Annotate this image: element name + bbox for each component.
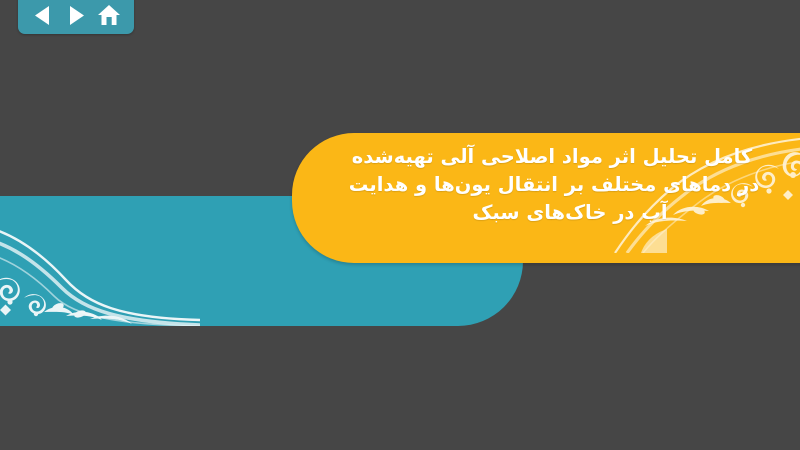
triangle-left-icon bbox=[33, 5, 53, 26]
slide-title: کامل تحلیل اثر مواد اصلاحی آلی تهیه‌شده … bbox=[310, 143, 800, 227]
title-line-2: در دماهای مختلف بر انتقال یون‌ها و هدایت bbox=[310, 171, 800, 199]
title-line-3: آب در خاک‌های سبک bbox=[310, 199, 800, 227]
title-line-1: کامل تحلیل اثر مواد اصلاحی آلی تهیه‌شده bbox=[310, 143, 800, 171]
next-button[interactable] bbox=[62, 2, 90, 28]
title-banner: کامل تحلیل اثر مواد اصلاحی آلی تهیه‌شده … bbox=[292, 133, 800, 263]
arabesque-corner-ornament bbox=[0, 206, 200, 326]
home-icon bbox=[97, 4, 121, 27]
previous-button[interactable] bbox=[29, 2, 57, 28]
navigation-toolbar bbox=[18, 0, 134, 34]
presentation-slide: کامل تحلیل اثر مواد اصلاحی آلی تهیه‌شده … bbox=[0, 0, 800, 450]
triangle-right-icon bbox=[66, 5, 86, 26]
home-button[interactable] bbox=[95, 2, 123, 28]
